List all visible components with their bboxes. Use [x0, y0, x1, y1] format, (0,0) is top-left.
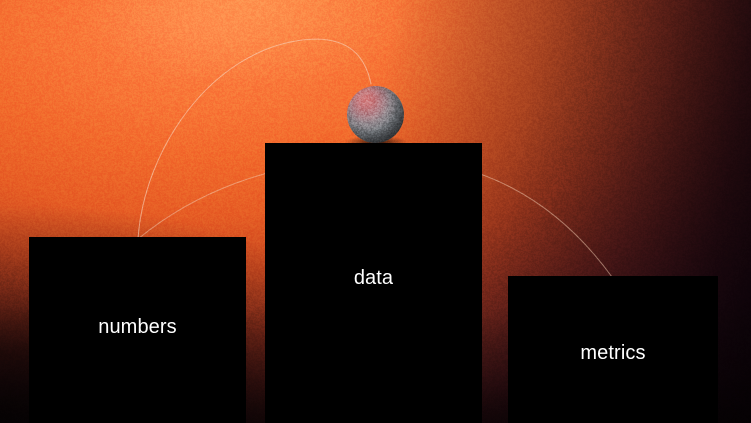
bar-metrics[interactable]: metrics: [508, 276, 718, 423]
bar-label-numbers: numbers: [29, 316, 246, 339]
balanced-sphere: [347, 86, 404, 143]
bar-numbers[interactable]: numbers: [29, 237, 246, 423]
bar-label-data: data: [265, 267, 482, 290]
scene-canvas: numbers data metrics: [0, 0, 751, 423]
sphere-grain-texture: [347, 86, 404, 143]
bar-label-metrics: metrics: [508, 342, 718, 365]
bar-data[interactable]: data: [265, 143, 482, 423]
